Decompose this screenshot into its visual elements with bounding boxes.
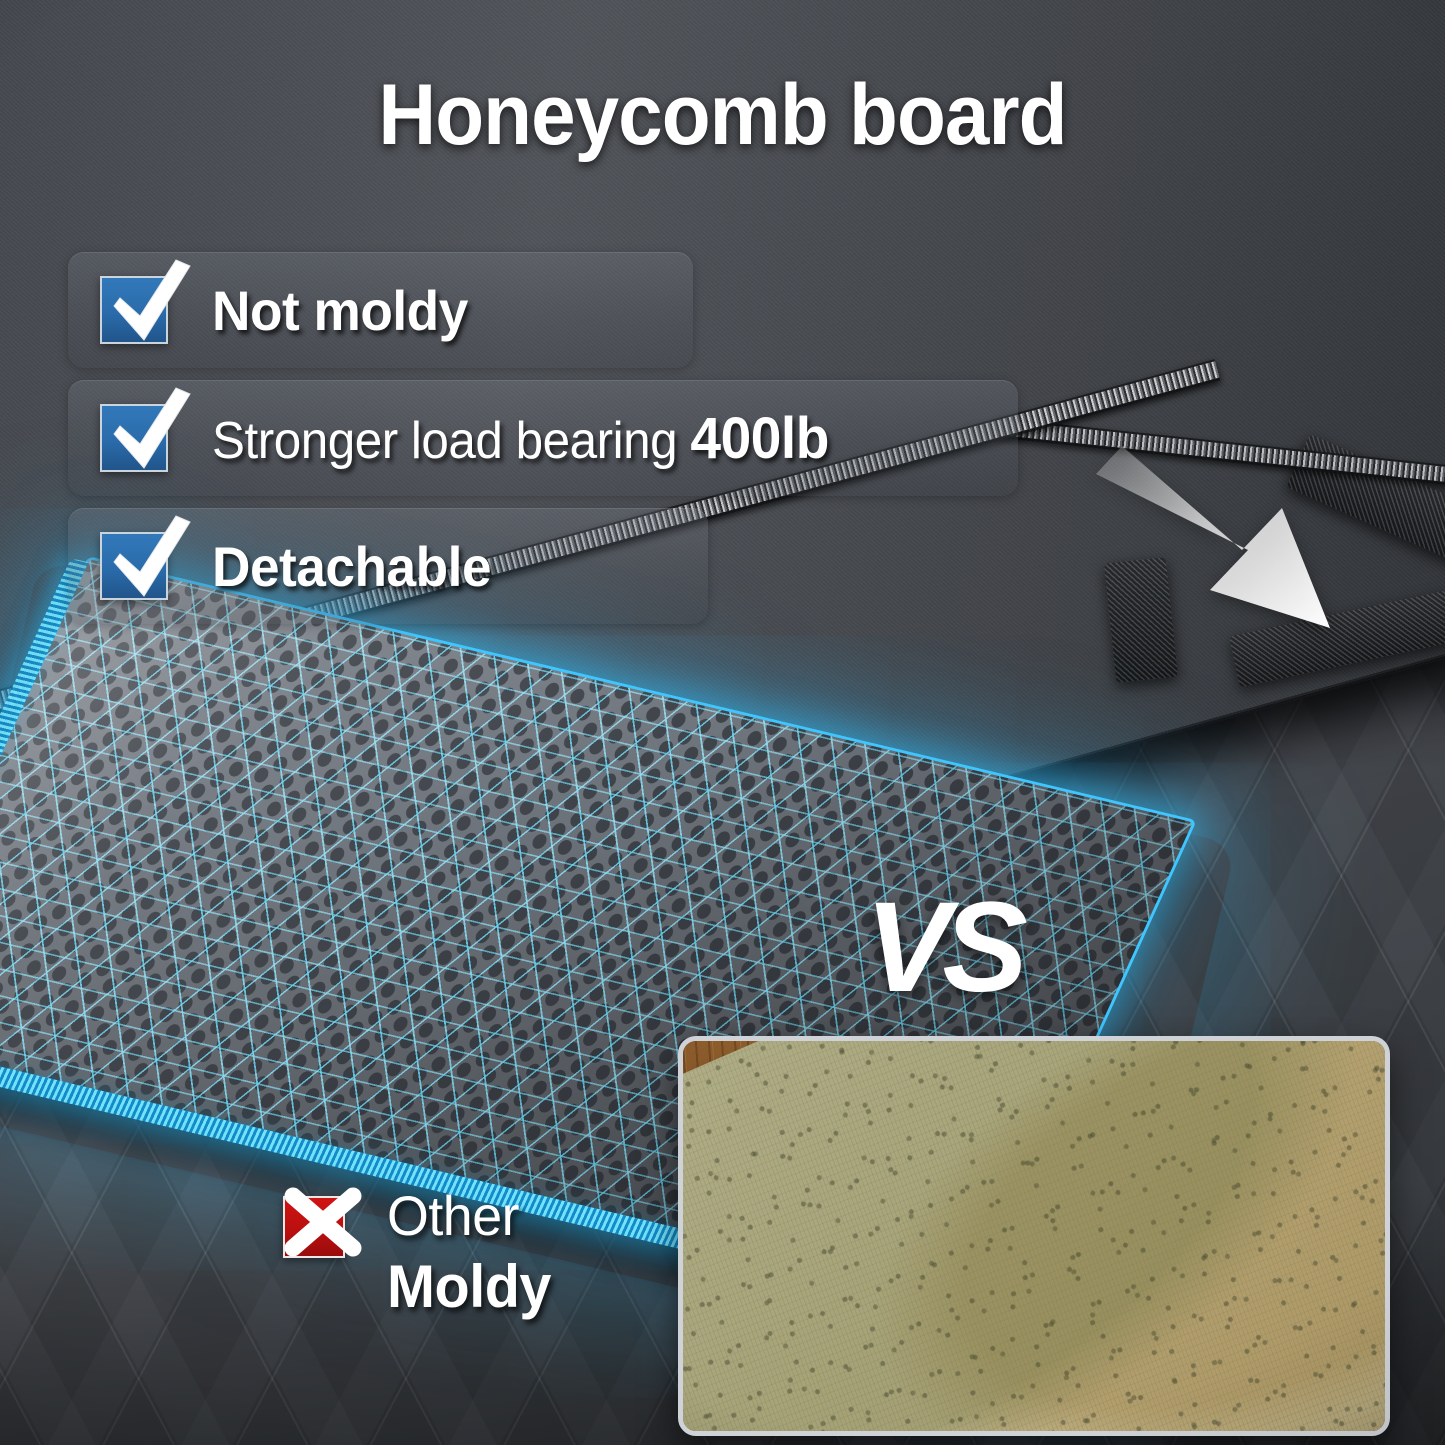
- feature-item-not-moldy: Not moldy: [68, 252, 693, 368]
- check-icon: [100, 404, 168, 472]
- negative-callout-text: Other Moldy: [387, 1188, 558, 1321]
- negative-callout: Other Moldy: [283, 1188, 703, 1321]
- moldy-board-photo: [678, 1036, 1390, 1436]
- feature-label: Not moldy: [212, 278, 468, 343]
- check-icon: [100, 532, 168, 600]
- feature-label: Stronger load bearing 400lb: [212, 405, 829, 472]
- check-icon: [100, 276, 168, 344]
- versus-badge: VS: [865, 878, 1045, 1018]
- feature-label-text: Stronger load bearing: [212, 412, 690, 470]
- cross-icon: [283, 1196, 345, 1258]
- negative-label-moldy: Moldy: [387, 1252, 551, 1321]
- down-right-arrow-icon: [1092, 430, 1382, 660]
- page-title: Honeycomb board: [51, 66, 1395, 165]
- feature-item-load-bearing: Stronger load bearing 400lb: [68, 380, 1018, 496]
- feature-list: Not moldy Stronger load bearing 400lb De…: [68, 252, 1028, 636]
- inset-vignette: [683, 1041, 1385, 1431]
- negative-label-other: Other: [387, 1188, 551, 1244]
- product-infographic: Honeycomb board Not moldy Stronger load …: [0, 0, 1445, 1445]
- feature-label-emphasis: 400lb: [690, 406, 829, 471]
- feature-label: Detachable: [212, 534, 491, 599]
- feature-item-detachable: Detachable: [68, 508, 708, 624]
